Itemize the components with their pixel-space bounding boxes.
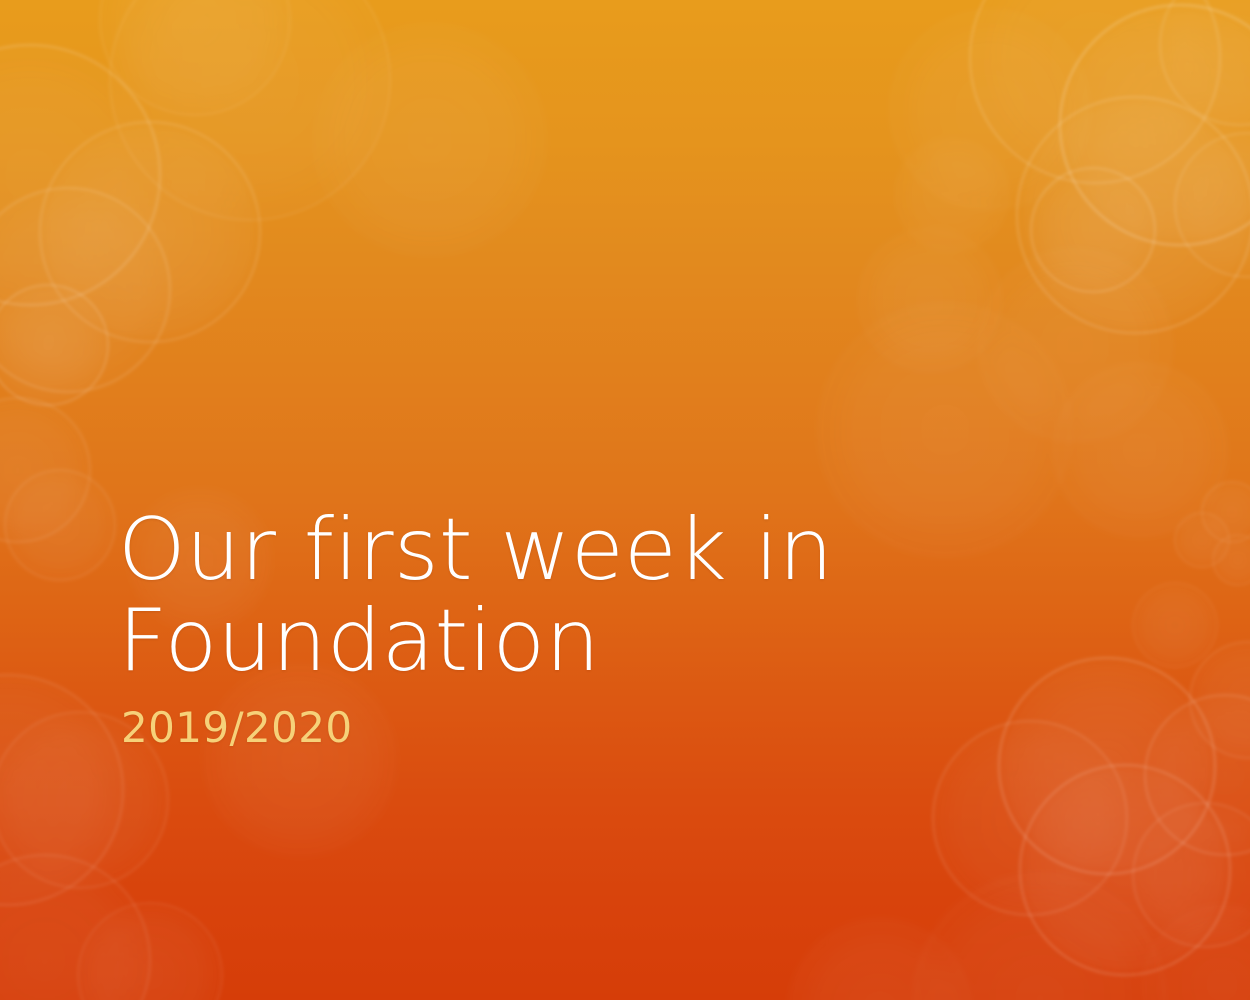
title-text-block: Our first week in Foundation 2019/2020 — [118, 505, 918, 751]
slide-subtitle: 2019/2020 — [121, 705, 918, 751]
title-slide: Our first week in Foundation 2019/2020 — [0, 0, 1250, 1000]
slide-title: Our first week in Foundation — [118, 505, 918, 687]
